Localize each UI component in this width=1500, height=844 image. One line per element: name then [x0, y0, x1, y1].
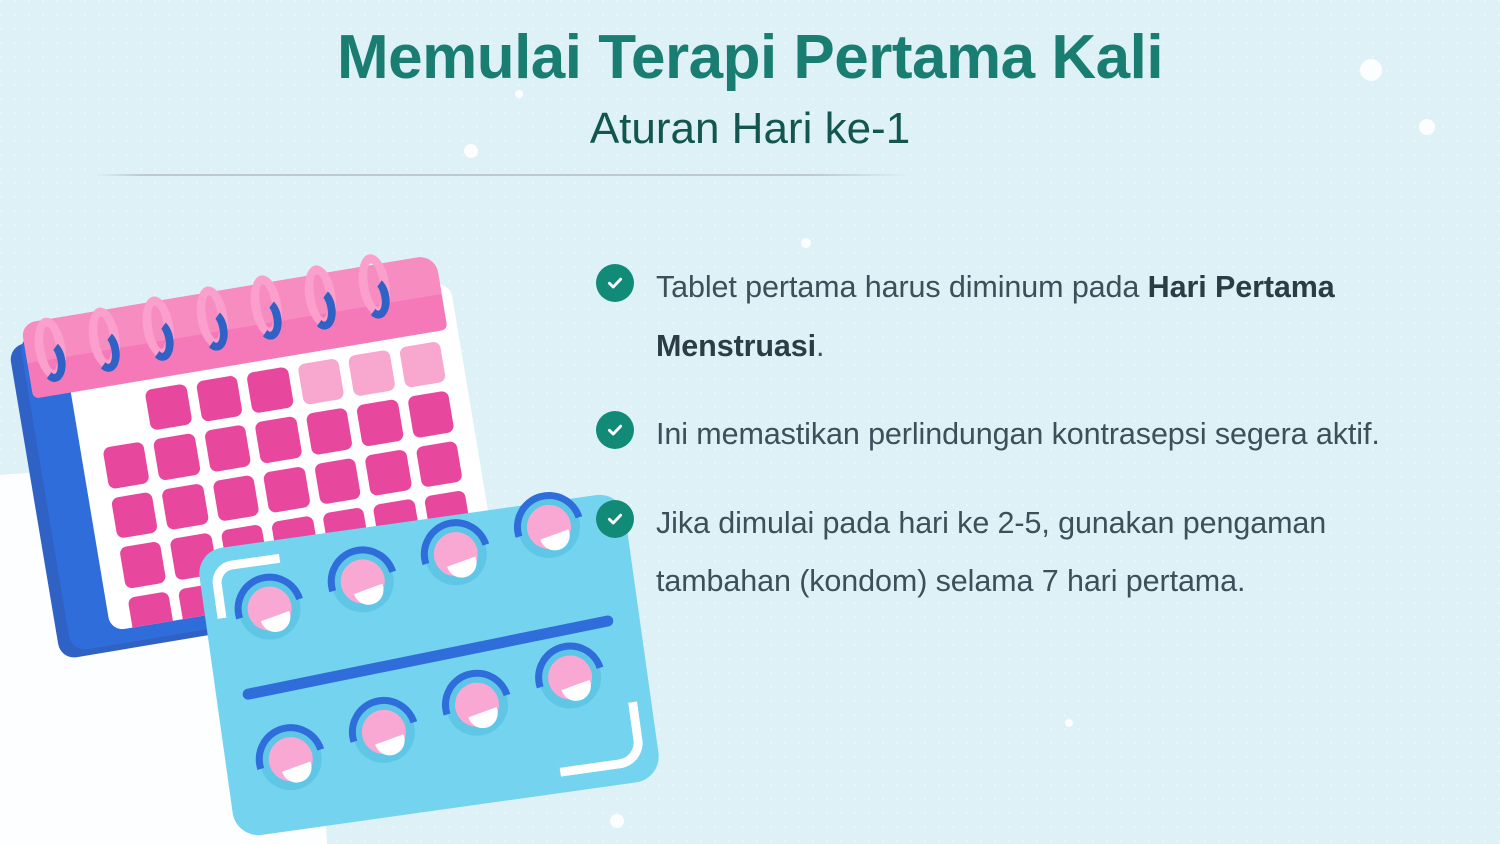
blister-pill	[256, 724, 326, 794]
calendar-spiral-ring	[354, 252, 394, 318]
calendar-day-cell	[127, 591, 175, 631]
bullet-item: Tablet pertama harus diminum pada Hari P…	[596, 258, 1466, 375]
calendar-day-cell	[204, 425, 252, 473]
calendar-day-cell	[314, 457, 362, 505]
blister-pill	[514, 492, 584, 562]
bullet-item: Ini memastikan perlindungan kontrasepsi …	[596, 405, 1466, 464]
calendar-day-cell	[297, 358, 345, 406]
calendar-day-cell	[196, 375, 244, 423]
calendar-day-cell	[305, 408, 353, 456]
calendar-spiral-ring-inner	[144, 317, 177, 363]
calendar-day-cell	[364, 449, 412, 497]
calendar-day-cell	[255, 416, 303, 464]
slide-root: Memulai Terapi Pertama Kali Aturan Hari …	[0, 0, 1500, 844]
bullet-item-text: Jika dimulai pada hari ke 2-5, gunakan p…	[656, 494, 1466, 611]
calendar-spiral-ring-inner	[360, 275, 393, 321]
blister-pill	[328, 546, 398, 616]
calendar-spiral-ring	[192, 284, 232, 350]
calendar-spiral-ring-inner	[306, 285, 339, 331]
blister-pill	[349, 697, 419, 767]
decorative-dot	[801, 238, 811, 248]
calendar-day-cell	[407, 391, 455, 439]
calendar-day-cell	[94, 392, 142, 440]
bullet-item-text: Ini memastikan perlindungan kontrasepsi …	[656, 405, 1466, 464]
calendar-day-cell	[212, 474, 260, 522]
blister-pill	[421, 519, 491, 589]
page-subtitle: Aturan Hari ke-1	[0, 103, 1500, 156]
bullet-item-text: Tablet pertama harus diminum pada Hari P…	[656, 258, 1466, 375]
calendar-spiral-ring	[138, 294, 178, 360]
decorative-dot	[1065, 719, 1073, 727]
calendar-spiral-ring	[246, 273, 286, 339]
calendar-day-cell	[119, 541, 167, 589]
blister-shine-bottom-right	[552, 701, 646, 776]
calendar-day-cell	[348, 349, 396, 397]
calendar-day-cell	[111, 491, 159, 539]
calendar-spiral-ring	[84, 305, 124, 371]
calendar-spiral-ring-inner	[198, 307, 231, 353]
blister-pill	[442, 670, 512, 740]
calendar-day-cell	[356, 399, 404, 447]
calendar-spiral-ring-inner	[36, 338, 69, 384]
calendar-spiral-ring	[30, 315, 70, 381]
title-divider	[95, 174, 910, 176]
calendar-day-cell	[399, 341, 447, 389]
calendar-day-cell	[263, 466, 311, 514]
check-circle-icon	[596, 411, 634, 449]
bullet-item: Jika dimulai pada hari ke 2-5, gunakan p…	[596, 494, 1466, 611]
calendar-day-cell	[162, 483, 210, 531]
calendar-day-cell	[153, 433, 201, 481]
calendar-spiral-ring-inner	[252, 296, 285, 342]
header: Memulai Terapi Pertama Kali Aturan Hari …	[0, 0, 1500, 156]
pill-blister-pack-illustration	[196, 491, 662, 838]
bullet-emphasis: Hari Pertama Menstruasi	[656, 270, 1335, 363]
check-circle-icon	[596, 264, 634, 302]
calendar-spiral-ring	[300, 262, 340, 328]
page-title: Memulai Terapi Pertama Kali	[0, 22, 1500, 93]
calendar-day-cell	[145, 383, 193, 431]
calendar-day-cell	[415, 440, 463, 488]
illustration-group	[0, 255, 690, 844]
calendar-day-cell	[246, 366, 294, 414]
calendar-spiral-ring-inner	[90, 328, 123, 374]
blister-pill	[235, 574, 305, 644]
check-circle-icon	[596, 500, 634, 538]
bullet-list: Tablet pertama harus diminum pada Hari P…	[596, 258, 1466, 641]
calendar-day-cell	[103, 442, 151, 490]
blister-pill	[535, 642, 605, 712]
